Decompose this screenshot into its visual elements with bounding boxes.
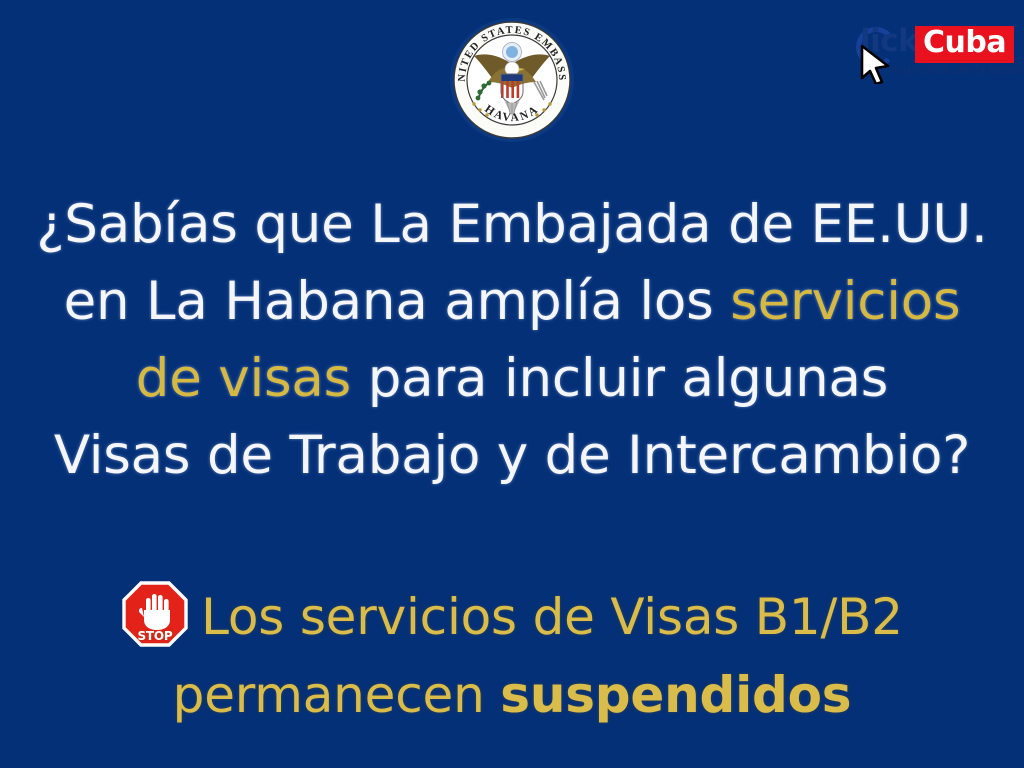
mouse-cursor-icon xyxy=(858,44,892,84)
clickcuba-tagline: A un click de la noticia xyxy=(890,62,1024,77)
clickcuba-cuba-badge: Cuba xyxy=(915,26,1014,63)
notice-line-2: permanecen suspendidos xyxy=(0,656,1024,734)
notice-emphasis-suspendidos: suspendidos xyxy=(500,666,851,724)
notice-block: STOP Los servicios de Visas B1/B2 perman… xyxy=(0,578,1024,734)
clickcuba-watermark: lick Cuba A un click de la noticia xyxy=(854,22,1018,84)
notice-line-2-text: permanecen xyxy=(173,666,501,724)
stop-sign-label: STOP xyxy=(138,629,173,643)
notice-line-1-text: Los servicios de Visas B1/B2 xyxy=(201,588,903,646)
headline-highlight-servicios: servicios xyxy=(730,271,960,332)
stop-sign-icon: STOP xyxy=(121,580,189,648)
poster-canvas: UNITED STATES EMBASSY HAVANA xyxy=(0,0,1024,768)
headline-highlight-de-visas: de visas xyxy=(136,348,351,409)
headline-line-2: en La Habana amplía los servicios xyxy=(0,263,1024,340)
us-embassy-seal-icon: UNITED STATES EMBASSY HAVANA xyxy=(444,12,580,148)
headline-line-2-text: en La Habana amplía los xyxy=(64,271,731,332)
headline-line-3: de visas para incluir algunas xyxy=(0,340,1024,417)
headline-block: ¿Sabías que La Embajada de EE.UU. en La … xyxy=(0,186,1024,494)
headline-line-4: Visas de Trabajo y de Intercambio? xyxy=(0,417,1024,494)
headline-line-1: ¿Sabías que La Embajada de EE.UU. xyxy=(0,186,1024,263)
us-embassy-seal: UNITED STATES EMBASSY HAVANA xyxy=(444,12,580,148)
notice-line-1: STOP Los servicios de Visas B1/B2 xyxy=(0,578,1024,656)
headline-line-3-text: para incluir algunas xyxy=(351,348,888,409)
